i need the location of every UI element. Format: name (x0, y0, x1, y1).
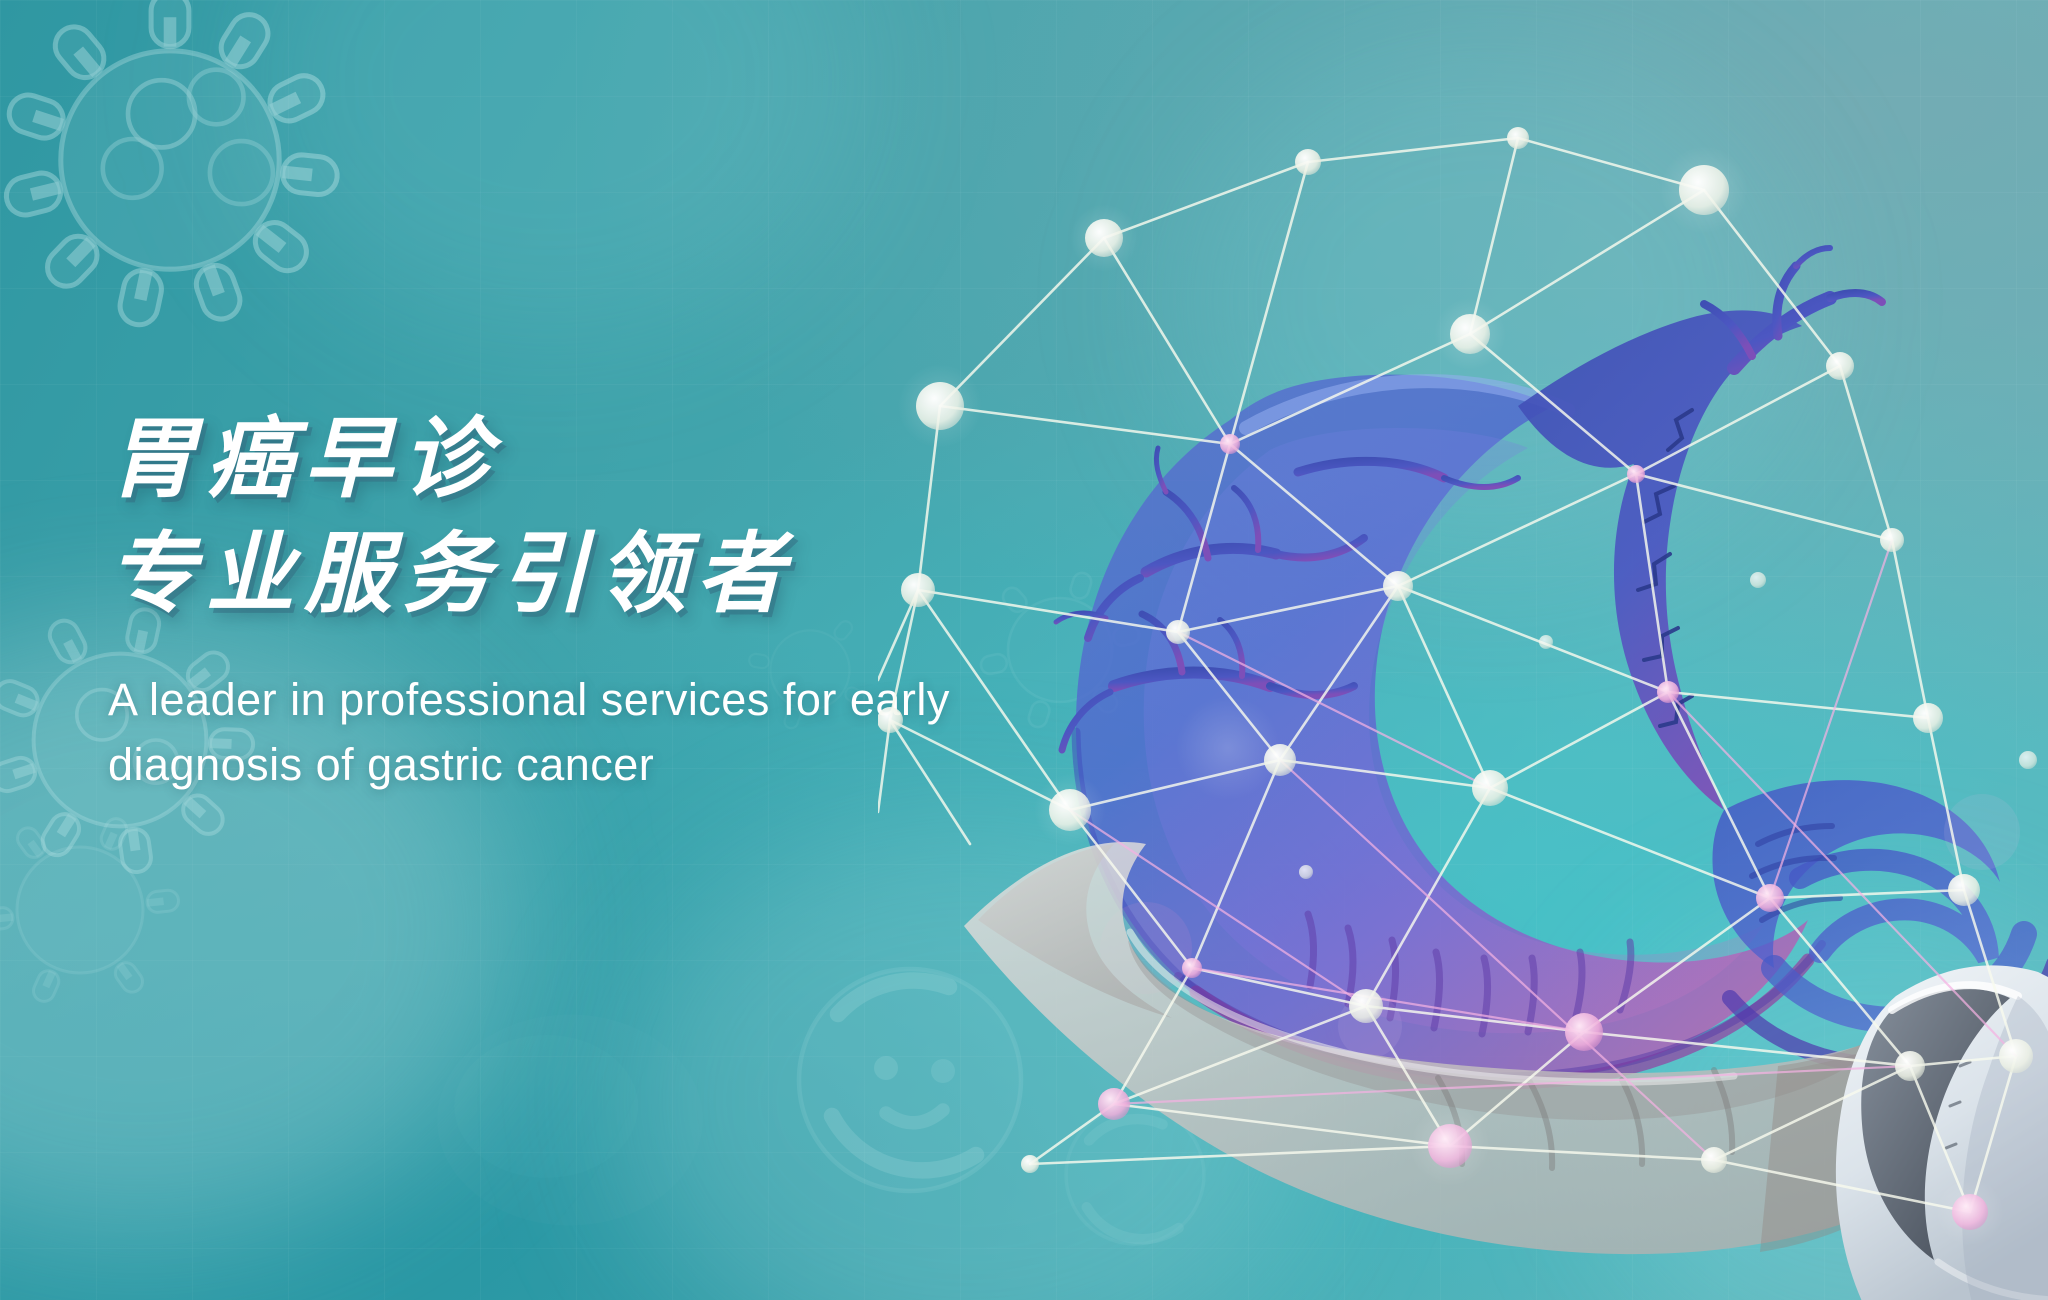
lab-coat-cuff-icon (1836, 965, 2048, 1300)
headline-line-2: 专业服务引领者 (108, 519, 1188, 628)
light-bloom (1600, 900, 2048, 1300)
light-bloom (1180, 40, 1800, 560)
headline-line-1: 胃癌早诊 (108, 404, 1188, 513)
hero-copy: 胃癌早诊 专业服务引领者 A leader in professional se… (108, 404, 1188, 798)
bacteria-cell-icon (760, 930, 1060, 1230)
virus-particle-icon (0, 760, 230, 1060)
hero-banner: 胃癌早诊 专业服务引领者 A leader in professional se… (0, 0, 2048, 1300)
light-bloom (620, 820, 1320, 1300)
page-subtitle: A leader in professional services for ea… (108, 668, 1118, 798)
bacteria-cell-icon (400, 950, 740, 1250)
virus-particle-icon (0, 0, 380, 350)
esophagus-vessel-tree (1518, 248, 1882, 810)
subtitle-line-1: A leader in professional services for ea… (108, 668, 1118, 733)
organ-glow (1100, 696, 2020, 1058)
light-bloom (240, 0, 860, 340)
duodenum (1712, 780, 2048, 1065)
bacteria-cell-icon (1020, 1060, 1250, 1290)
page-title: 胃癌早诊 专业服务引领者 (108, 404, 1188, 628)
subtitle-line-2: diagnosis of gastric cancer (108, 733, 1118, 798)
open-hand-icon (964, 842, 1934, 1254)
